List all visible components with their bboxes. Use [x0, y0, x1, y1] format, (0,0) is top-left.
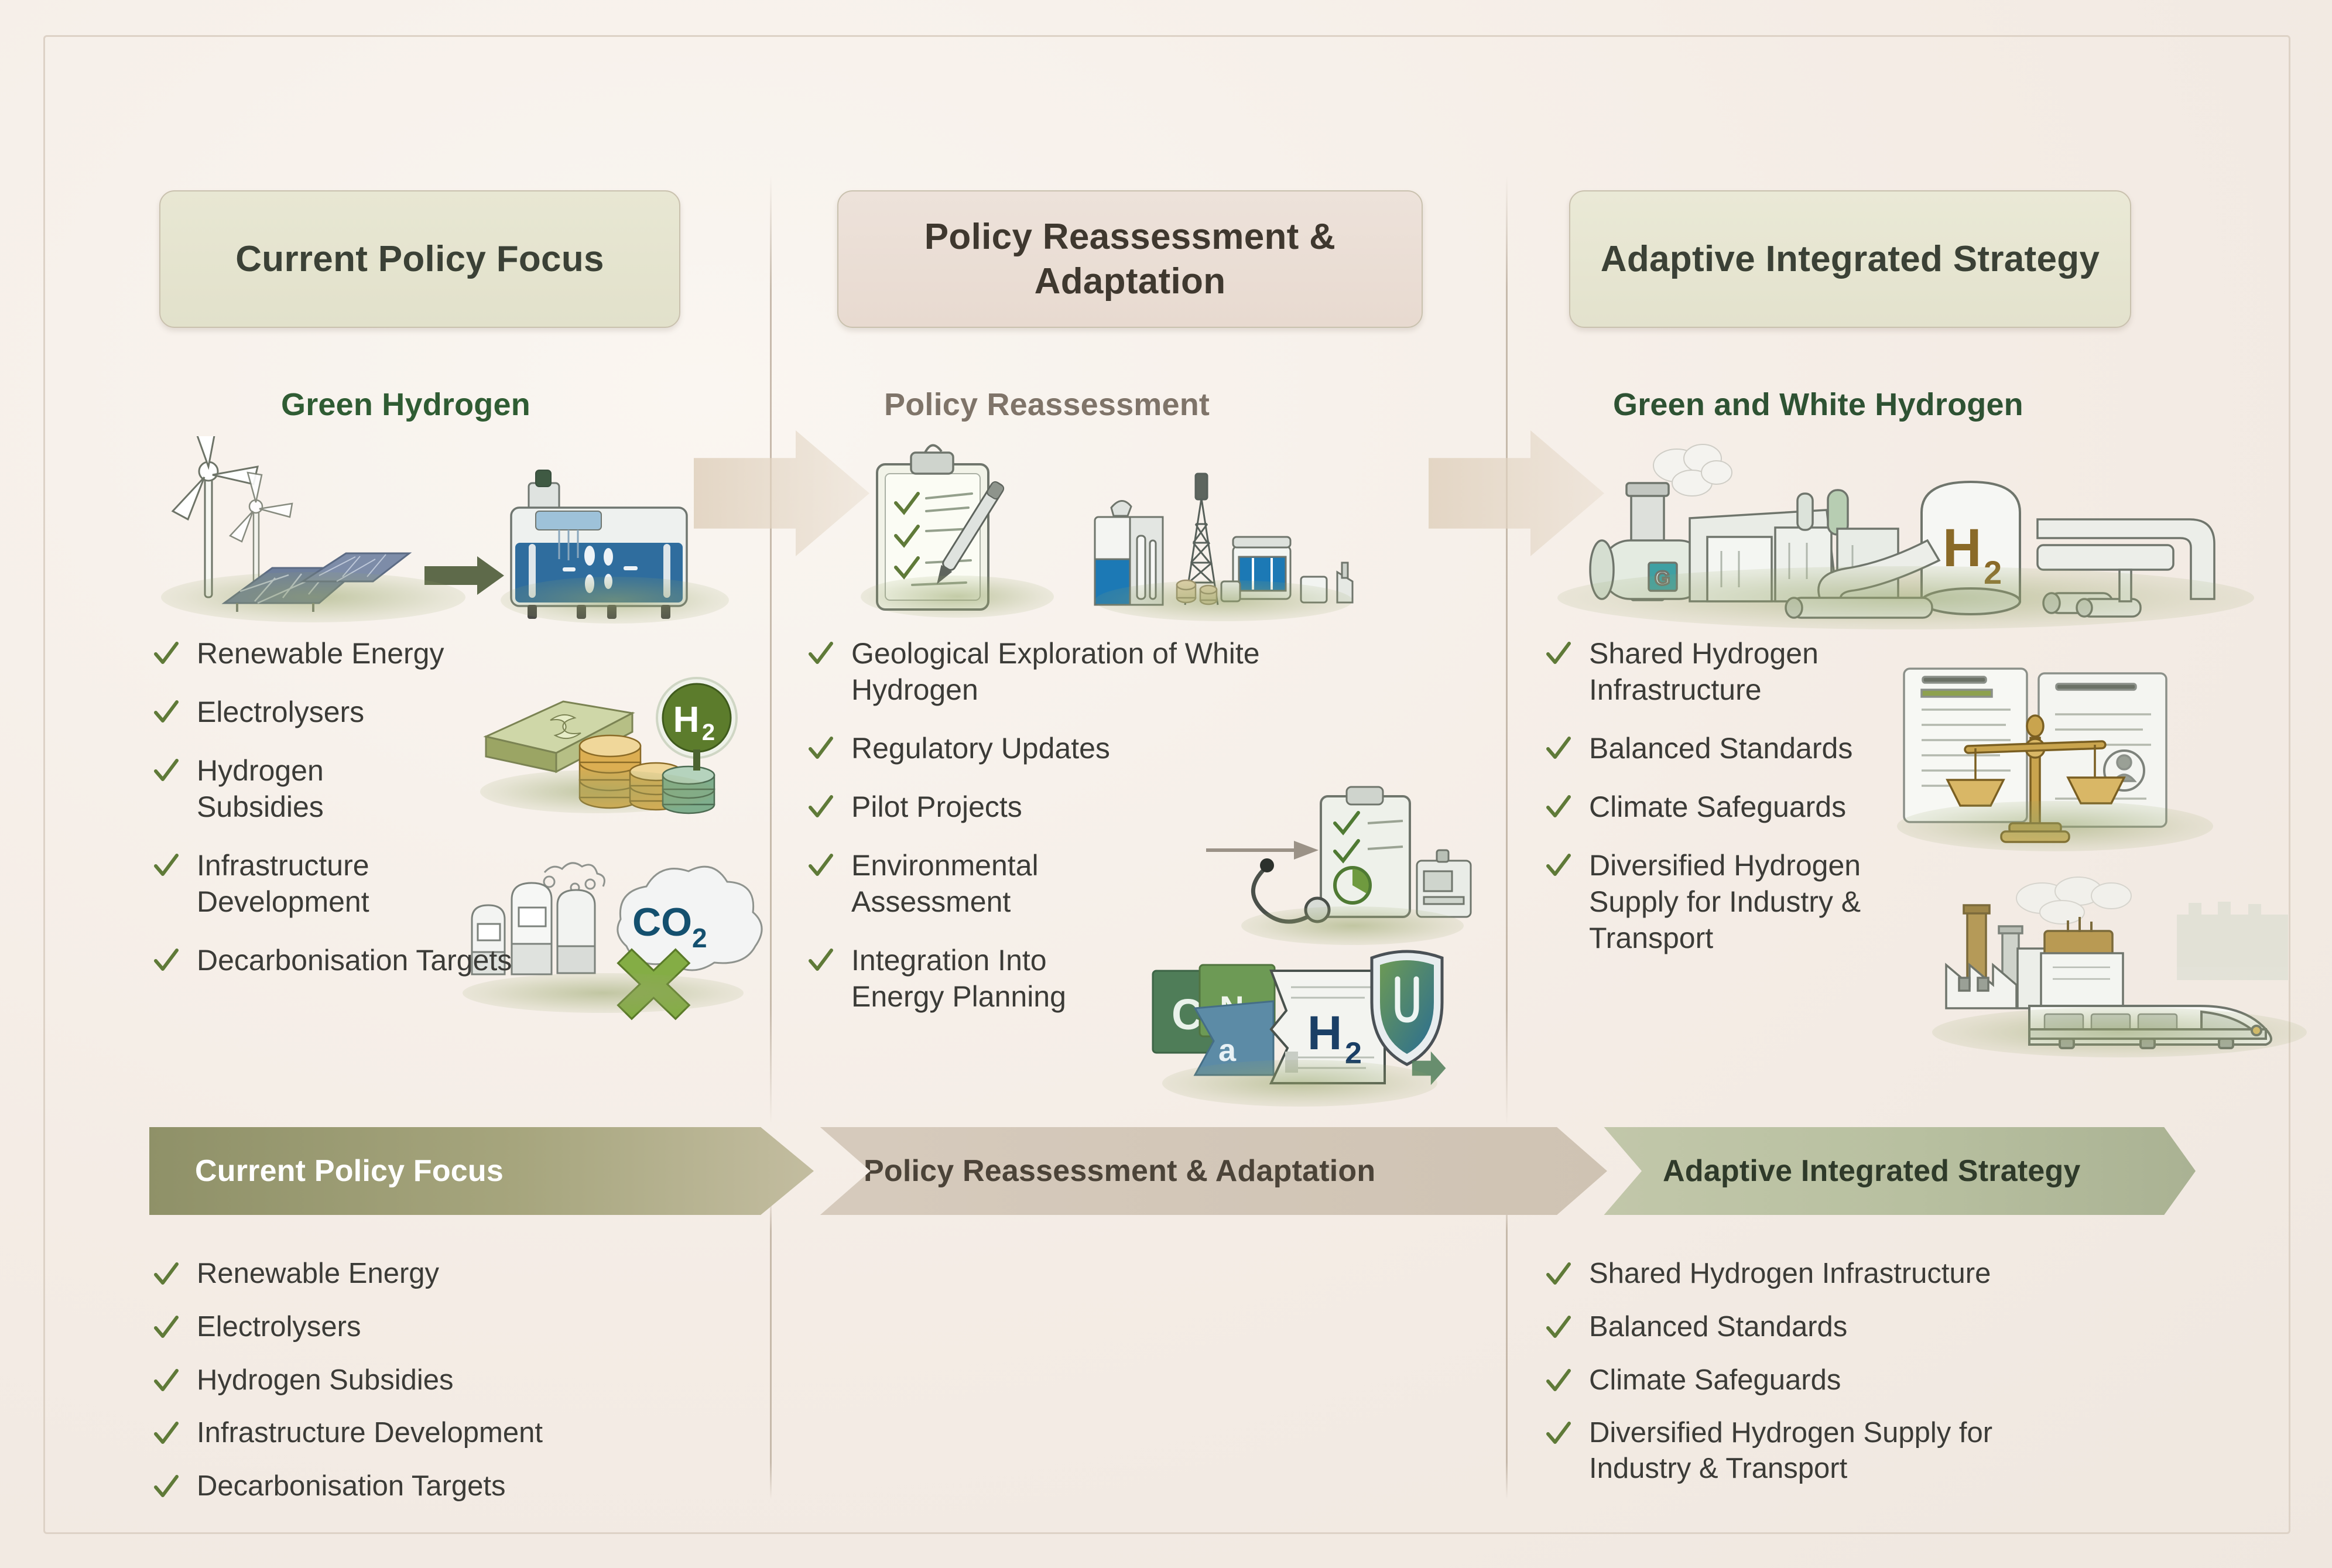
list-item-label: Climate Safeguards [1589, 1362, 1841, 1398]
check-icon [153, 1472, 179, 1502]
check-icon [1546, 734, 1571, 764]
banner-stage-current-policy-focus[interactable]: Current Policy Focus [149, 1127, 814, 1215]
list-item-label: Shared Hydrogen Infrastructure [1589, 1256, 1991, 1292]
check-icon [153, 1419, 179, 1449]
bottom-column-divider-2 [1506, 1194, 1508, 1499]
list-item[interactable]: Hydrogen Subsidies [153, 1362, 751, 1398]
check-icon [1546, 1313, 1571, 1343]
column-3-list: Shared Hydrogen Infrastructure Balanced … [1546, 635, 2307, 978]
list-item-label: Climate Safeguards [1589, 789, 1846, 825]
list-item-label: Electrolysers [197, 1309, 361, 1345]
check-icon [1546, 792, 1571, 823]
check-icon [153, 756, 179, 786]
list-item[interactable]: Infrastructure Development [153, 847, 481, 920]
banner-stage-1-label: Current Policy Focus [195, 1153, 504, 1189]
subhead-green-and-white-hydrogen: Green and White Hydrogen [1613, 386, 2023, 423]
check-icon [1546, 851, 1571, 881]
list-item-label: Shared Hydrogen Infrastructure [1589, 635, 1864, 708]
list-item[interactable]: Electrolysers [153, 694, 756, 730]
header-pill-current-policy-focus[interactable]: Current Policy Focus [159, 190, 680, 328]
check-icon [153, 851, 179, 881]
list-item-label: Diversified Hydrogen Supply for Industry… [1589, 1415, 2034, 1487]
list-item-label: Infrastructure Development [197, 1415, 543, 1451]
banner-stage-adaptive-integrated-strategy[interactable]: Adaptive Integrated Strategy [1566, 1127, 2196, 1215]
list-item[interactable]: Geological Exploration of White Hydrogen [808, 635, 1493, 708]
check-icon [808, 792, 834, 823]
list-item-label: Geological Exploration of White Hydrogen [851, 635, 1261, 708]
list-item[interactable]: Balanced Standards [1546, 730, 2307, 766]
check-icon [153, 697, 179, 728]
list-item[interactable]: Climate Safeguards [1546, 1362, 2278, 1398]
header-pill-3-label: Adaptive Integrated Strategy [1601, 237, 2100, 282]
list-item[interactable]: Decarbonisation Targets [153, 942, 756, 978]
column-1-list: Renewable Energy Electrolysers Hydrogen … [153, 635, 756, 1001]
list-item[interactable]: Decarbonisation Targets [153, 1468, 751, 1504]
check-icon [808, 734, 834, 764]
list-item[interactable]: Pilot Projects [808, 789, 1493, 825]
list-item[interactable]: Diversified Hydrogen Supply for Industry… [1546, 847, 2307, 956]
list-item-label: Electrolysers [197, 694, 364, 730]
list-item[interactable]: Regulatory Updates [808, 730, 1493, 766]
list-item-label: Hydrogen Subsidies [197, 752, 372, 825]
list-item[interactable]: Climate Safeguards [1546, 789, 2307, 825]
check-icon [1546, 1259, 1571, 1290]
list-item-label: Diversified Hydrogen Supply for Industry… [1589, 847, 1917, 956]
list-item[interactable]: Integration Into Energy Planning [808, 942, 1493, 1015]
bottom-column-3-list: Shared Hydrogen Infrastructure Balanced … [1546, 1256, 2278, 1504]
check-icon [1546, 639, 1571, 669]
banner-stage-2-label: Policy Reassessment & Adaptation [864, 1153, 1375, 1189]
header-pill-1-label: Current Policy Focus [235, 237, 604, 282]
check-icon [153, 1313, 179, 1343]
subhead-policy-reassessment: Policy Reassessment [884, 386, 1210, 423]
list-item-label: Regulatory Updates [851, 730, 1110, 766]
list-item-label: Decarbonisation Targets [197, 1468, 506, 1504]
header-pill-policy-reassessment[interactable]: Policy Reassessment & Adaptation [837, 190, 1423, 328]
list-item-label: Environmental Assessment [851, 847, 1097, 920]
list-item-label: Pilot Projects [851, 789, 1022, 825]
list-item[interactable]: Hydrogen Subsidies [153, 752, 429, 825]
list-item[interactable]: Electrolysers [153, 1309, 751, 1345]
subhead-green-hydrogen: Green Hydrogen [281, 386, 530, 423]
list-item-label: Hydrogen Subsidies [197, 1362, 454, 1398]
check-icon [808, 851, 834, 881]
list-item[interactable]: Shared Hydrogen Infrastructure [1546, 635, 2307, 708]
bottom-column-1-list: Renewable Energy Electrolysers Hydrogen … [153, 1256, 751, 1522]
bottom-column-divider-1 [770, 1194, 772, 1499]
column-2-list: Geological Exploration of White Hydrogen… [808, 635, 1493, 1037]
list-item-label: Integration Into Energy Planning [851, 942, 1126, 1015]
banner-stage-3-label: Adaptive Integrated Strategy [1663, 1153, 2081, 1189]
infographic-canvas: Current Policy Focus Policy Reassessment… [0, 0, 2332, 1568]
list-item-label: Balanced Standards [1589, 730, 1852, 766]
check-icon [808, 639, 834, 669]
stage-banner: Current Policy Focus Policy Reassessment… [149, 1127, 2193, 1215]
list-item-label: Infrastructure Development [197, 847, 431, 920]
list-item[interactable]: Renewable Energy [153, 1256, 751, 1292]
list-item[interactable]: Environmental Assessment [808, 847, 1493, 920]
list-item[interactable]: Renewable Energy [153, 635, 756, 672]
check-icon [153, 639, 179, 669]
list-item-label: Decarbonisation Targets [197, 942, 512, 978]
column-divider-2 [1506, 176, 1508, 1124]
check-icon [153, 1259, 179, 1290]
banner-stage-policy-reassessment-adaptation[interactable]: Policy Reassessment & Adaptation [770, 1127, 1607, 1215]
column-divider-1 [770, 176, 772, 1124]
list-item[interactable]: Diversified Hydrogen Supply for Industry… [1546, 1415, 2278, 1487]
header-pill-2-label: Policy Reassessment & Adaptation [854, 215, 1406, 303]
check-icon [153, 946, 179, 976]
check-icon [808, 946, 834, 976]
check-icon [1546, 1419, 1571, 1449]
list-item[interactable]: Shared Hydrogen Infrastructure [1546, 1256, 2278, 1292]
list-item-label: Balanced Standards [1589, 1309, 1847, 1345]
list-item[interactable]: Balanced Standards [1546, 1309, 2278, 1345]
list-item-label: Renewable Energy [197, 635, 444, 672]
check-icon [153, 1366, 179, 1396]
list-item-label: Renewable Energy [197, 1256, 439, 1292]
list-item[interactable]: Infrastructure Development [153, 1415, 751, 1451]
header-pill-adaptive-integrated-strategy[interactable]: Adaptive Integrated Strategy [1569, 190, 2131, 328]
check-icon [1546, 1366, 1571, 1396]
